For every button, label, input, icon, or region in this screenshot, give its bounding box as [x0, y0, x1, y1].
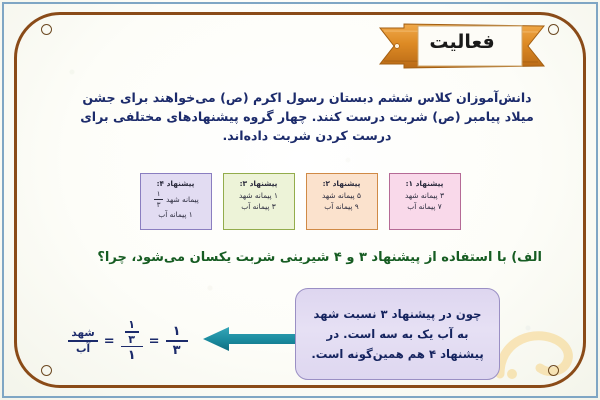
equals-sign-1: =: [103, 334, 116, 349]
answer-callout: چون در پیشنهاد ۳ نسبت شهد به آب یک به سه…: [295, 288, 500, 380]
equation-right-numerator: ۱: [170, 323, 184, 340]
corner-dot-top-left: [41, 24, 52, 35]
corner-dot-bottom-right: [548, 365, 559, 376]
equation-right-denominator: ۳: [170, 342, 184, 359]
title-ribbon: فعالیت: [378, 22, 546, 70]
page-title: فعالیت: [378, 31, 546, 53]
suggestion-4-water: ۱ پیمانه آب: [158, 209, 193, 220]
equation-left-numerator: شهد: [68, 326, 97, 341]
suggestion-4-title: پیشنهاد ۴:: [157, 178, 195, 189]
question-text: الف) با استفاده از پیشنهاد ۳ و ۴ شیرینی …: [62, 250, 542, 265]
suggestion-boxes: پیشنهاد ۱: ۳ پیمانه شهد ۷ پیمانه آب پیشن…: [0, 173, 600, 230]
suggestion-3-water: ۳ پیمانه آب: [241, 201, 276, 212]
left-arrow-icon: [203, 326, 308, 352]
suggestion-2-honey: ۵ پیمانه شهد: [322, 190, 361, 201]
ratio-equation: شهد آب = ۱ ۳ ۱ = ۱ ۳: [58, 312, 198, 370]
equation-middle-inner-fraction: ۱ ۳: [125, 318, 139, 346]
suggestion-1-title: پیشنهاد ۱:: [406, 178, 444, 189]
suggestion-1-honey: ۳ پیمانه شهد: [405, 190, 444, 201]
suggestion-1-water: ۷ پیمانه آب: [407, 201, 442, 212]
equation-middle-inner-numerator: ۱: [125, 318, 138, 331]
suggestion-4-honey-denominator: ۳: [157, 201, 161, 209]
suggestion-4-honey-fraction: ۱ ۳: [154, 190, 163, 209]
suggestion-box-4: پیشنهاد ۴: پیمانه شهد ۱ ۳ ۱ پیمانه آب: [140, 173, 212, 230]
suggestion-4-honey-numerator: ۱: [157, 190, 161, 198]
suggestion-4-honey-unit: پیمانه شهد: [166, 194, 199, 205]
slide-canvas: فعالیت دانش‌آموزان کلاس ششم دبستان رسول …: [0, 0, 600, 400]
equation-middle-fraction: ۱ ۳ ۱: [121, 318, 143, 364]
watermark-logo: [492, 324, 584, 386]
intro-paragraph: دانش‌آموزان کلاس ششم دبستان رسول اکرم (ص…: [72, 88, 542, 145]
equation-middle-numerator: ۱ ۳: [125, 318, 139, 346]
suggestion-box-1: پیشنهاد ۱: ۳ پیمانه شهد ۷ پیمانه آب: [389, 173, 461, 230]
suggestion-2-water: ۹ پیمانه آب: [324, 201, 359, 212]
corner-dot-bottom-left: [41, 365, 52, 376]
equation-left-denominator: آب: [73, 342, 93, 357]
fraction-bar: [154, 199, 163, 200]
equation-middle-inner-denominator: ۳: [125, 333, 138, 346]
suggestion-3-title: پیشنهاد ۳:: [240, 178, 278, 189]
suggestion-4-honey: پیمانه شهد ۱ ۳: [152, 190, 199, 209]
equation-right-fraction: ۱ ۳: [166, 323, 188, 359]
equation-middle-denominator: ۱: [125, 347, 139, 364]
corner-dot-top-right: [548, 24, 559, 35]
equation-left-fraction: شهد آب: [68, 326, 97, 357]
suggestion-box-3: پیشنهاد ۳: ۱ پیمانه شهد ۳ پیمانه آب: [223, 173, 295, 230]
equals-sign-2: =: [148, 334, 161, 349]
suggestion-box-2: پیشنهاد ۲: ۵ پیمانه شهد ۹ پیمانه آب: [306, 173, 378, 230]
suggestion-2-title: پیشنهاد ۲:: [323, 178, 361, 189]
suggestion-3-honey: ۱ پیمانه شهد: [239, 190, 278, 201]
